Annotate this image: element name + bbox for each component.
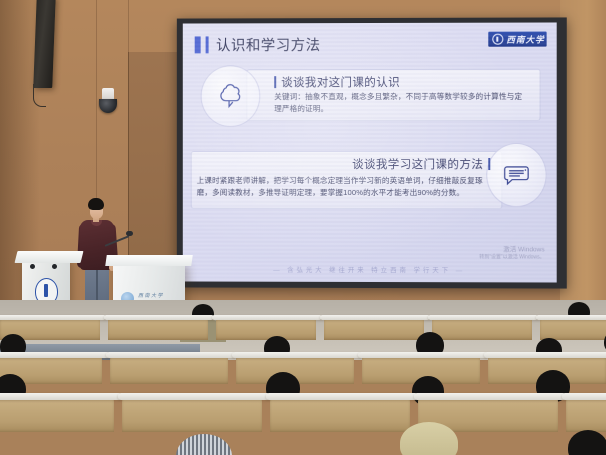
title-accent-bar-thin [206,36,208,53]
slide-block-2: 谈谈我学习这门课的方法 上课时紧跟老师讲解，把学习每个概念定理当作学习新的英语单… [191,151,547,209]
speaker-cable [33,84,46,107]
podium-main-logo-text: 西南大学 [138,292,164,299]
seat-rail [266,393,418,400]
heading-tick [274,76,276,88]
seat-rail [0,393,122,400]
seat-back [324,318,424,340]
slide-block-2-heading: 谈谈我学习这门课的方法 [352,156,483,172]
slide-title-row: 认识和学习方法 [195,34,321,55]
podium-main-desktop [105,255,193,266]
microphone-icon [126,231,133,236]
seat-rail [106,352,236,358]
slide-surface: 认识和学习方法 西南大学 谈谈我对这门课的认识 [183,22,557,282]
audience-head-beanie [176,434,232,455]
heading-tick [488,158,490,170]
seat-back [110,356,228,384]
slide-block-1-body: 关键词：抽象不直观，概念多且繁杂，不同于高等数学较多的计算性与定理严格的证明。 [274,91,526,116]
slide-block-2-heading-row: 谈谈我学习这门课的方法 [352,156,490,172]
seat-rail [212,315,322,320]
slide-block-2-body: 上课时紧跟老师讲解，把学习每个概念定理当作学习新的英语单词，仔细推敲反复琢磨，多… [197,175,497,200]
title-accent-bar-thick [195,36,201,53]
projection-screen: 认识和学习方法 西南大学 谈谈我对这门课的认识 [177,17,567,288]
seat-back [540,318,606,340]
seat-rail [0,315,106,320]
university-logo: 西南大学 [488,32,546,47]
slide-block-1: 谈谈我对这门课的认识 关键词：抽象不直观，概念多且繁杂，不同于高等数学较多的计算… [201,69,541,121]
slide-block-1-heading-row: 谈谈我对这门课的认识 [274,74,400,90]
slide-footer-motto: — 含弘光大 继往开来 特立西南 学行天下 — [183,265,557,275]
seat-back [122,398,262,432]
podium-knob [30,264,35,269]
podium-knob [52,264,57,269]
seat-rail [118,393,270,400]
thought-cloud-icon [201,65,261,127]
seat-rail [414,393,566,400]
seat-rail [428,315,538,320]
audience-head [568,430,606,455]
lecture-hall-photo: 认识和学习方法 西南大学 谈谈我对这门课的认识 [0,0,606,455]
presenter [78,198,118,310]
wall-speaker-panel [33,0,56,88]
windows-activation-watermark: 激活 Windows 转到“设置”以激活 Windows。 [479,246,544,261]
slide-block-1-heading: 谈谈我对这门课的认识 [281,74,400,90]
university-emblem-icon [492,34,503,45]
seat-rail [0,352,110,358]
seat-rail [358,352,488,358]
seat-rail [536,315,606,320]
seat-back [216,318,316,340]
seat-back [270,398,410,432]
wall-right-section [560,0,606,340]
presenter-hair [88,198,104,210]
seat-rail [562,393,606,400]
podium-small-desktop [15,251,84,263]
seat-back [108,318,208,340]
seat-back [566,398,606,432]
seat-rail [484,352,606,358]
audience-seating [0,300,606,455]
seat-rail [232,352,362,358]
university-logo-text: 西南大学 [506,33,544,45]
watermark-line-1: 激活 Windows [479,246,544,254]
seat-back [0,398,114,432]
watermark-line-2: 转到“设置”以激活 Windows。 [479,254,544,260]
seat-rail [320,315,430,320]
page-title: 认识和学习方法 [216,34,321,55]
seat-back [432,318,532,340]
seat-rail [104,315,214,320]
